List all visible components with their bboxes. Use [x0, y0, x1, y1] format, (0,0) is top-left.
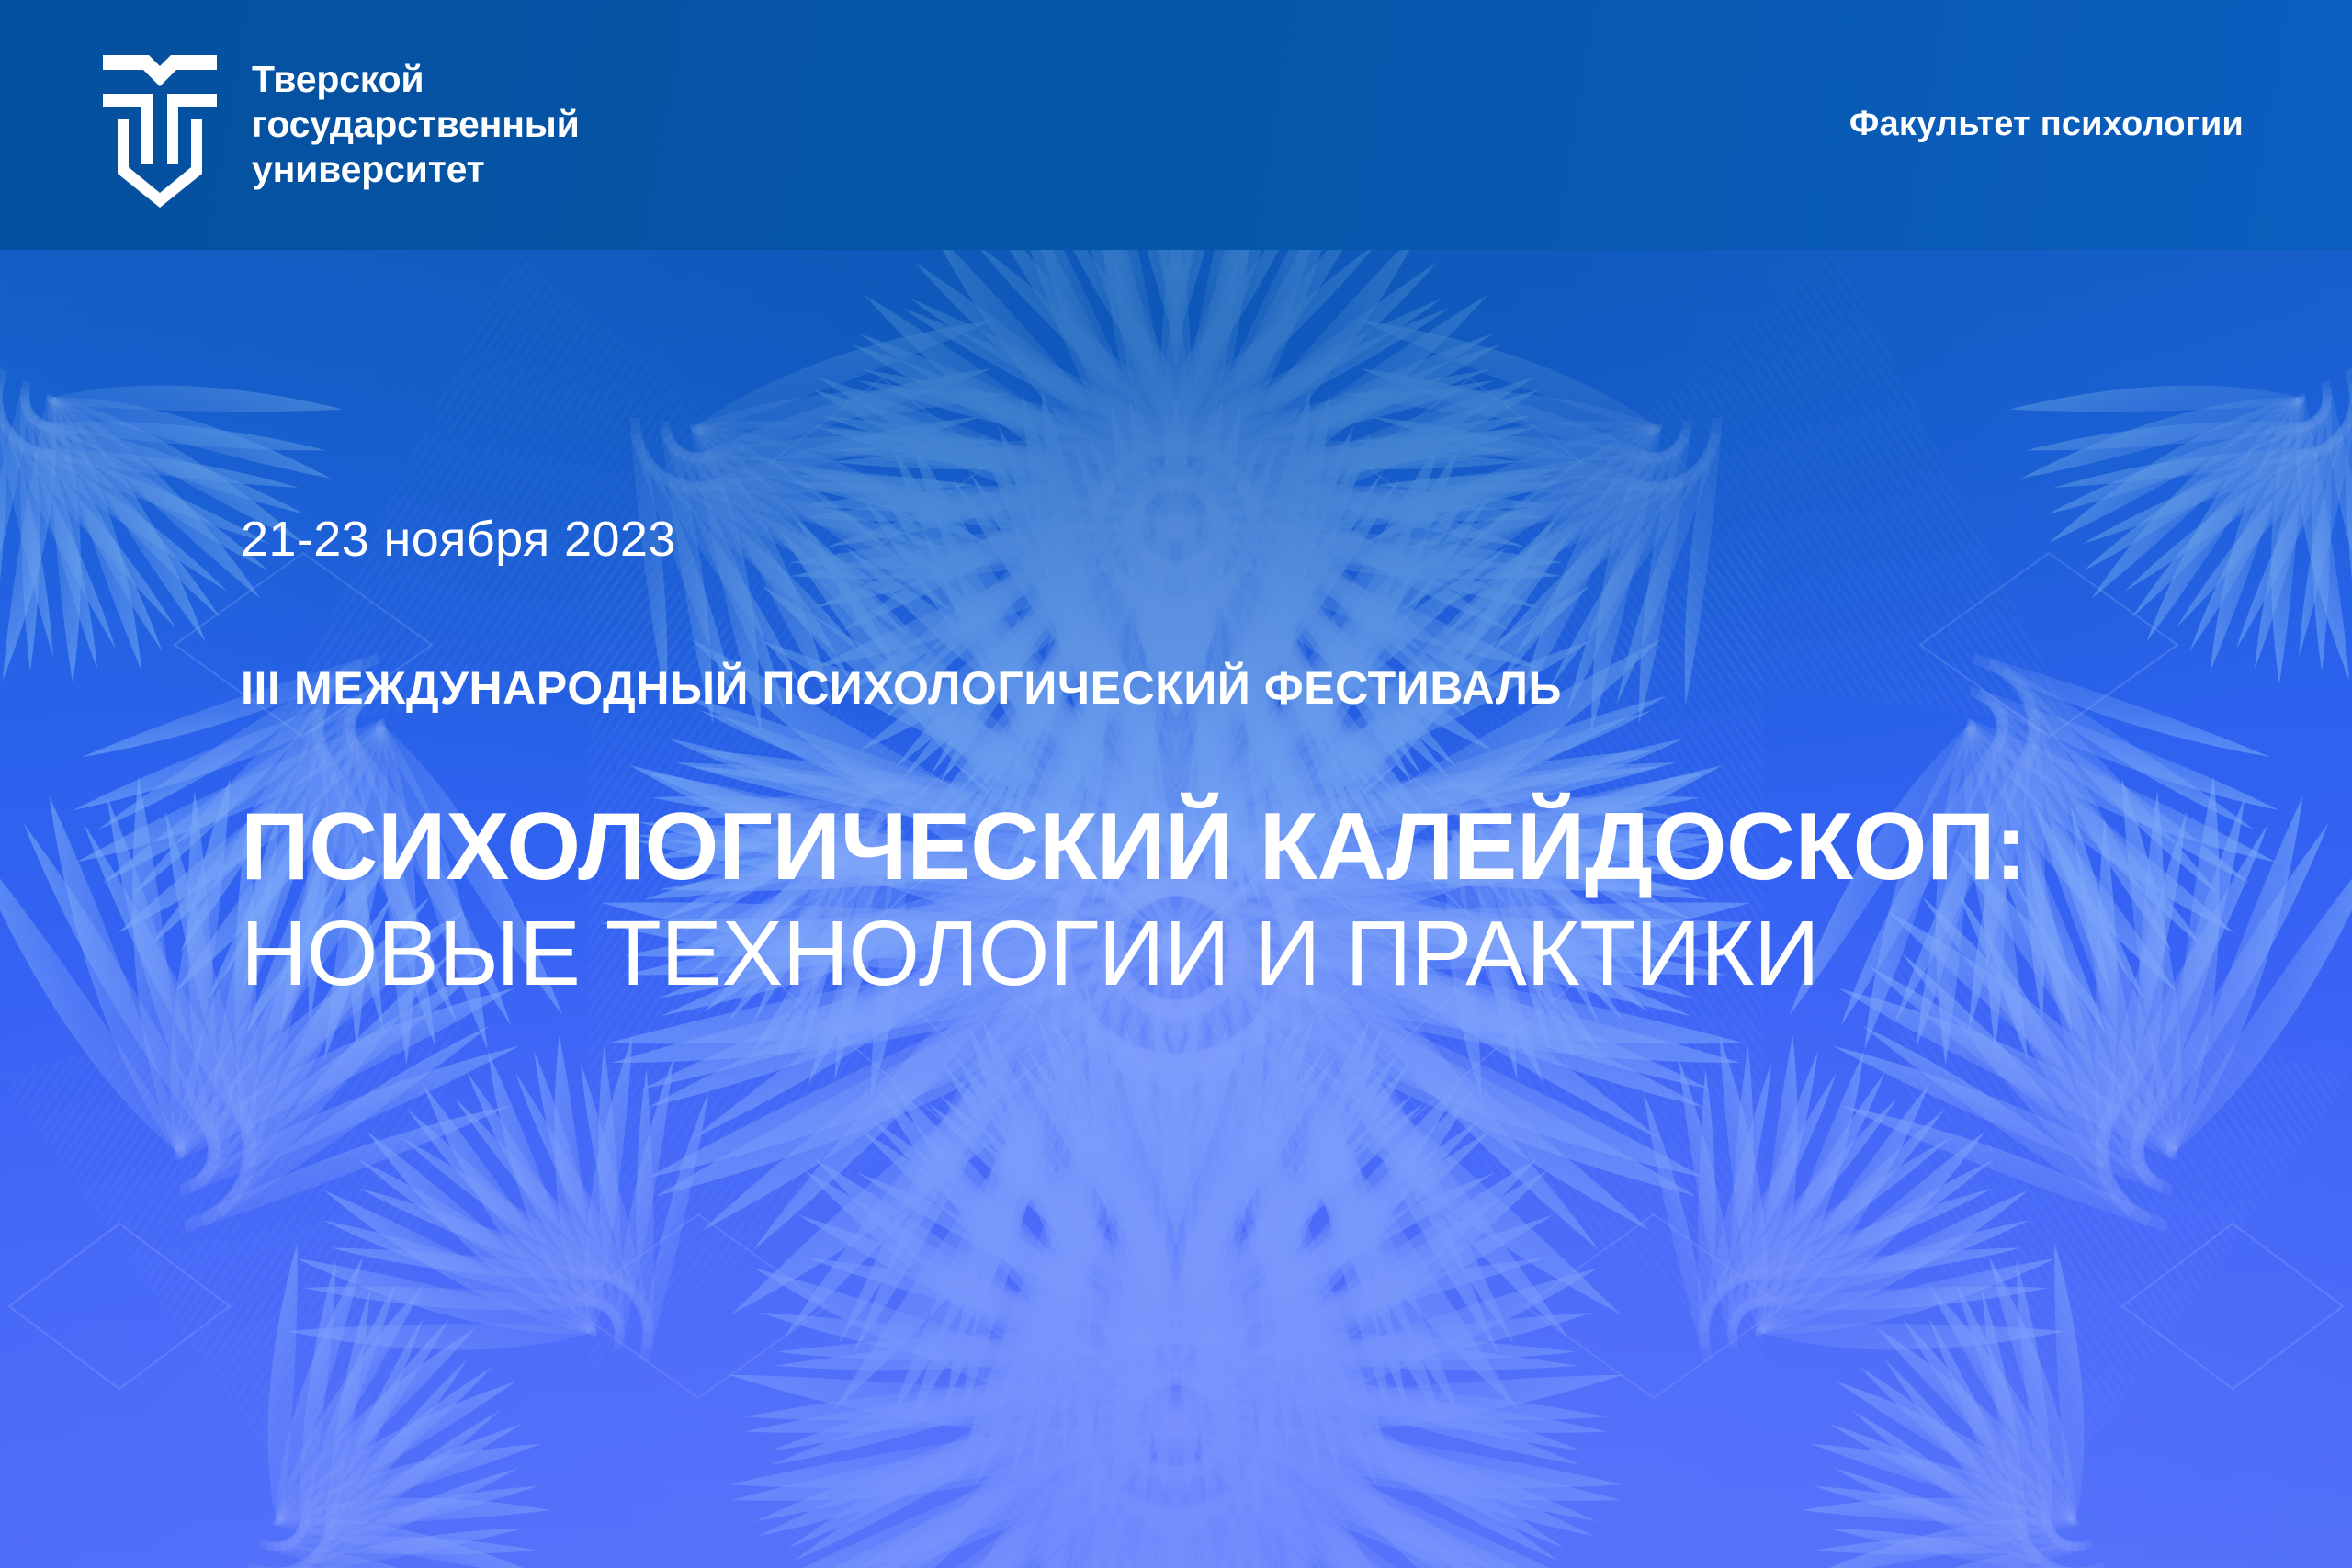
header-band: Тверской государственный университет Фак…	[0, 0, 2352, 250]
university-name-line-3: университет	[252, 147, 580, 192]
event-title-line-2: НОВЫЕ ТЕХНОЛОГИИ И ПРАКТИКИ	[241, 904, 2026, 1003]
event-title: ПСИХОЛОГИЧЕСКИЙ КАЛЕЙДОСКОП: НОВЫЕ ТЕХНО…	[241, 795, 2026, 1003]
event-title-line-1: ПСИХОЛОГИЧЕСКИЙ КАЛЕЙДОСКОП:	[241, 795, 2026, 898]
tvsu-shield-t-icon	[101, 53, 219, 208]
event-kicker: III МЕЖДУНАРОДНЫЙ ПСИХОЛОГИЧЕСКИЙ ФЕСТИВ…	[241, 665, 2026, 711]
event-date: 21-23 ноября 2023	[241, 514, 2026, 564]
hero-copy-block: 21-23 ноября 2023 III МЕЖДУНАРОДНЫЙ ПСИХ…	[241, 514, 2026, 1003]
university-name-line-2: государственный	[252, 102, 580, 147]
university-name: Тверской государственный университет	[252, 53, 580, 193]
university-brand-lockup[interactable]: Тверской государственный университет	[101, 53, 580, 208]
poster-canvas: Тверской государственный университет Фак…	[0, 0, 2352, 1568]
faculty-label: Факультет психологии	[1849, 105, 2244, 144]
university-name-line-1: Тверской	[252, 57, 580, 102]
